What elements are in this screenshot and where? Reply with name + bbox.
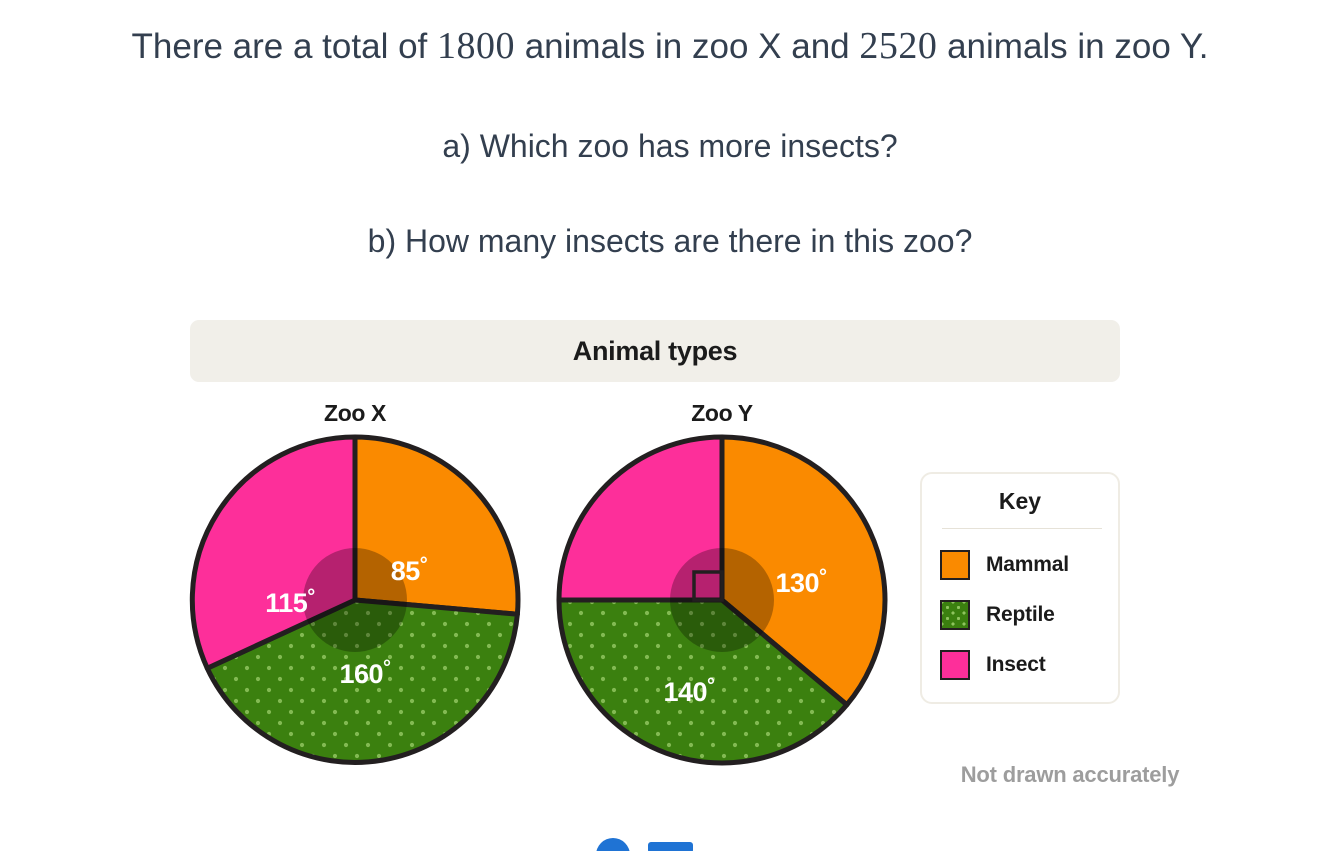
chart-title: Animal types bbox=[573, 336, 737, 367]
legend-label-mammal: Mammal bbox=[986, 553, 1069, 577]
legend-label-reptile: Reptile bbox=[986, 603, 1055, 627]
legend-label-insect: Insect bbox=[986, 653, 1046, 677]
question-line-1-part-b: animals in zoo X and bbox=[515, 27, 859, 66]
question-line-1: There are a total of 1800 animals in zoo… bbox=[0, 24, 1340, 69]
legend-swatch-mammal bbox=[940, 550, 970, 580]
chart-title-banner: Animal types bbox=[190, 320, 1120, 382]
legend-divider bbox=[942, 528, 1102, 529]
not-drawn-accurately-note: Not drawn accurately bbox=[920, 762, 1220, 788]
legend-items: Mammal Reptile Insect bbox=[940, 540, 1110, 690]
legend-item-reptile: Reptile bbox=[940, 590, 1110, 640]
bottom-toolbar-fragment bbox=[0, 838, 1340, 851]
bottom-circle-button[interactable] bbox=[596, 838, 630, 851]
question-line-3: b) How many insects are there in this zo… bbox=[0, 220, 1340, 262]
legend-swatch-reptile bbox=[940, 600, 970, 630]
total-animals-zoo-y: 2520 bbox=[859, 25, 937, 67]
chart-legend-key: Key Mammal Reptile Insect bbox=[920, 472, 1120, 704]
legend-item-mammal: Mammal bbox=[940, 540, 1110, 590]
pie-chart-zoo-y: 130° 140° bbox=[554, 432, 890, 768]
pie-label-zoo-y: Zoo Y bbox=[632, 400, 812, 427]
legend-title: Key bbox=[922, 488, 1118, 515]
legend-item-insect: Insect bbox=[940, 640, 1110, 690]
legend-swatch-insect bbox=[940, 650, 970, 680]
total-animals-zoo-x: 1800 bbox=[437, 25, 515, 67]
question-line-1-part-c: animals in zoo Y. bbox=[937, 27, 1208, 66]
question-line-1-part-a: There are a total of bbox=[132, 27, 437, 66]
pie-label-zoo-x: Zoo X bbox=[265, 400, 445, 427]
chart-area: Animal types Zoo X 85° 160° 115 bbox=[0, 300, 1340, 851]
question-line-2: a) Which zoo has more insects? bbox=[0, 125, 1340, 167]
bottom-bar-button[interactable] bbox=[648, 842, 693, 851]
pie-chart-zoo-x: 85° 160° 115° bbox=[187, 432, 523, 768]
